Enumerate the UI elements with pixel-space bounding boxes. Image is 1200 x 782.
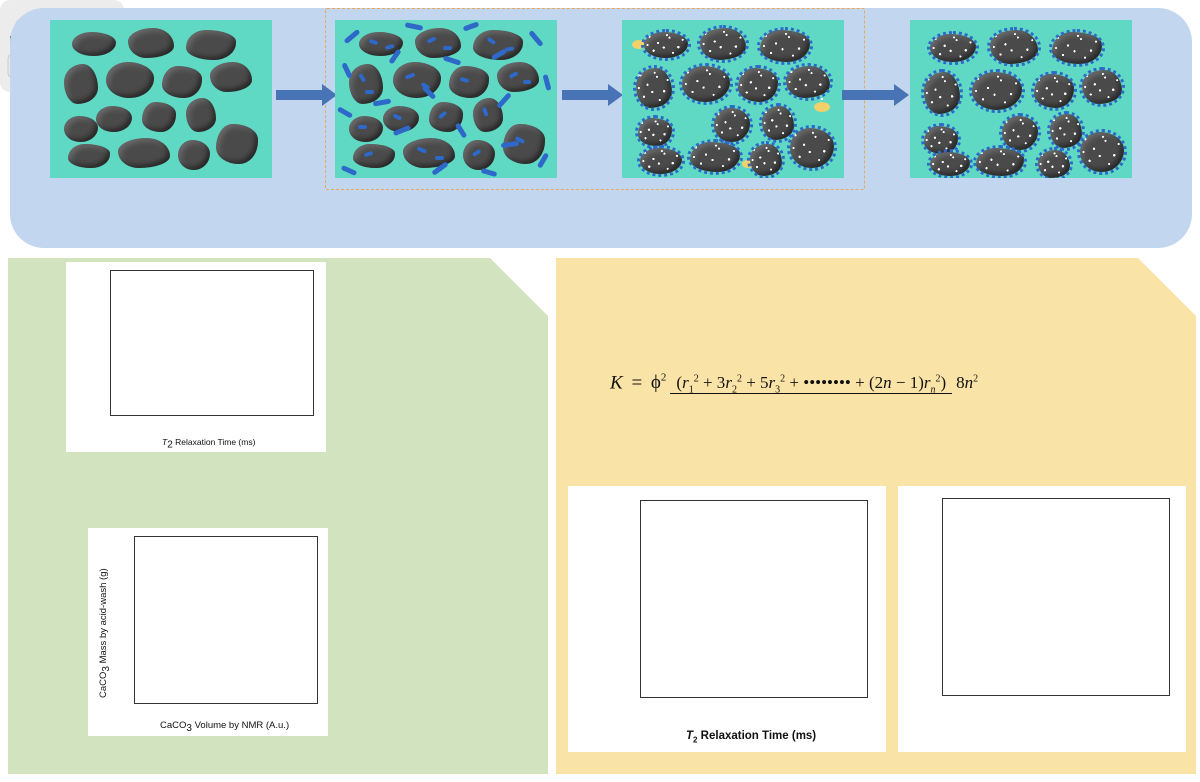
- stage-biomineralized-state: [910, 20, 1132, 178]
- scatter-xlabel: CaCO3 Volume by NMR (A.u.): [160, 720, 289, 734]
- stage-original-state: [50, 20, 272, 178]
- caco3-mass-scatter-chart: CaCO3 Mass by acid-wash (g) CaCO3 Volume…: [88, 528, 328, 736]
- total-nmr-signal-chart: T2 Relaxation Time (ms): [568, 486, 886, 752]
- stage-mineralization-injected: [622, 20, 844, 178]
- stage-bacteria-injected: [335, 20, 557, 178]
- marshall-permeability-formula: K = ϕ2 (r12 + 3r22 + 5r32 + •••••••• + (…: [610, 372, 1170, 444]
- cum-xlabel: T2 Relaxation Time (ms): [686, 730, 816, 744]
- relative-reduction-chart: [898, 486, 1186, 752]
- formula-fraction: (r12 + 3r22 + 5r32 + •••••••• + (2n − 1)…: [670, 373, 978, 395]
- formula-phi: ϕ2: [651, 372, 667, 393]
- formula-numerator: (r12 + 3r22 + 5r32 + •••••••• + (2n − 1)…: [670, 373, 952, 394]
- nmr-xlabel: T2 Relaxation Time (ms): [162, 437, 255, 451]
- formula-denominator: 8n2: [956, 371, 978, 392]
- formula-lhs: K: [610, 372, 623, 393]
- scatter-ylabel: CaCO3 Mass by acid-wash (g): [98, 568, 112, 698]
- nmr-pore-size-chart: T2 Relaxation Time (ms): [66, 262, 326, 452]
